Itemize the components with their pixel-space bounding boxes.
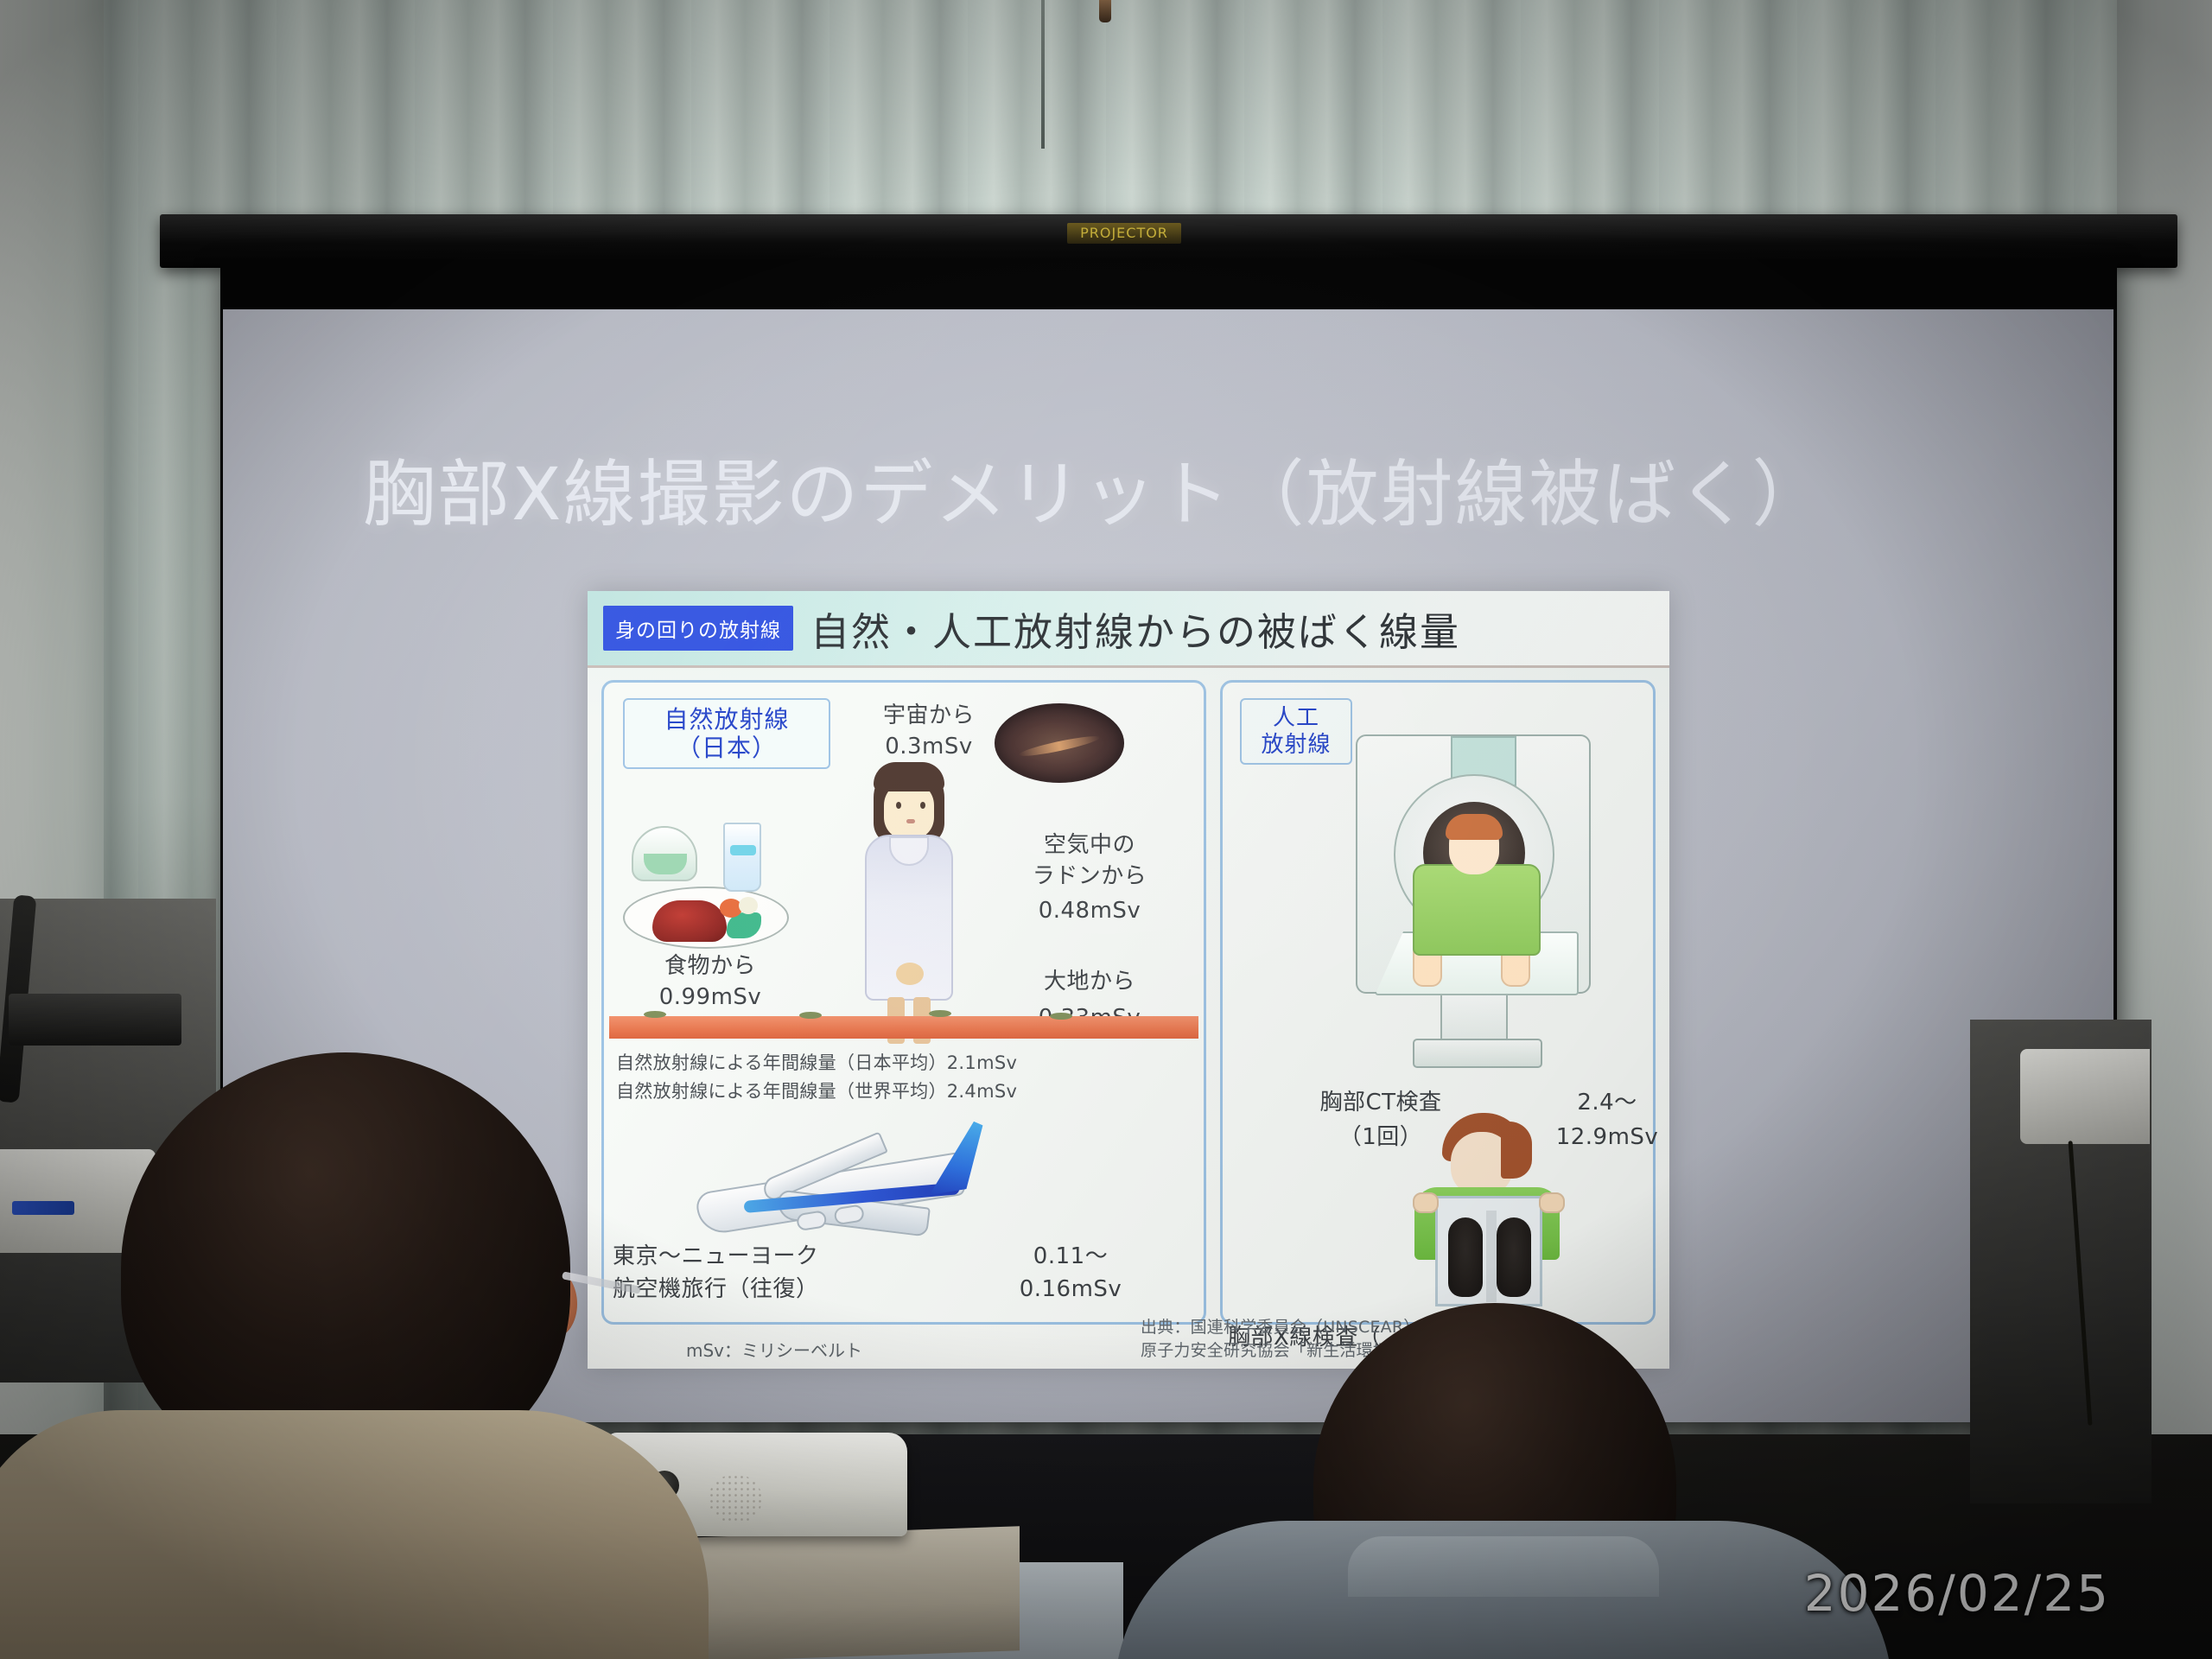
camera-datestamp: 2026/02/25 bbox=[1804, 1564, 2110, 1623]
ct-patient-gown bbox=[1413, 864, 1541, 956]
xray-film-icon bbox=[1435, 1196, 1542, 1306]
tag-artificial-line1: 人工 bbox=[1250, 705, 1342, 732]
unit-note: mSv：ミリシーベルト bbox=[686, 1337, 862, 1362]
tag-natural-line1: 自然放射線 bbox=[633, 705, 820, 734]
xray-person-hair-side bbox=[1501, 1122, 1532, 1179]
projector-vent bbox=[709, 1474, 762, 1524]
chest-xray-illustration bbox=[1375, 1113, 1599, 1312]
screen-case-label: PROJECTOR bbox=[1067, 223, 1181, 244]
label-ground-source: 大地から bbox=[995, 968, 1185, 996]
ct-scanner-illustration bbox=[1330, 734, 1615, 1080]
ceiling-mount-bracket bbox=[1099, 0, 1111, 22]
ground-strip bbox=[609, 1016, 1198, 1039]
summary-world-average: 自然放射線による年間線量（世界平均）2.4mSv bbox=[616, 1077, 1197, 1106]
xray-spine bbox=[1486, 1211, 1497, 1302]
person-illustration bbox=[836, 762, 982, 1056]
value-radon-dose: 0.48mSv bbox=[995, 897, 1185, 925]
person-eye-left bbox=[896, 802, 901, 809]
lecture-room-photo: PROJECTOR 胸部X線撮影のデメリット（放射線被ばく） 身の回りの放射線 … bbox=[0, 0, 2212, 1659]
left-wall bbox=[0, 0, 104, 1659]
person-hands bbox=[896, 963, 924, 985]
infographic-heading: 自然・人工放射線からの被ばく線量 bbox=[810, 601, 1460, 657]
screen-case-label-text: PROJECTOR bbox=[1067, 223, 1181, 244]
ct-patient-hair bbox=[1446, 814, 1503, 840]
av-device-indicator bbox=[12, 1201, 74, 1215]
xray-person-hand-right bbox=[1539, 1192, 1565, 1213]
value-food-dose: 0.99mSv bbox=[620, 983, 801, 1012]
value-cosmic-dose: 0.3mSv bbox=[851, 733, 1007, 761]
ceiling-rod bbox=[1041, 0, 1045, 149]
label-radon-line2: ラドンから bbox=[995, 862, 1185, 891]
cosmos-galaxy-icon bbox=[995, 703, 1124, 783]
person-hair-front bbox=[874, 762, 944, 791]
infographic-panels: 自然放射線 （日本） 宇宙から 0.3mSv bbox=[588, 668, 1669, 1325]
av-cart-left-deck bbox=[9, 994, 181, 1046]
ct-pedestal bbox=[1440, 990, 1508, 1046]
tag-natural-radiation: 自然放射線 （日本） bbox=[623, 698, 830, 769]
value-travel-dose-max: 0.16mSv bbox=[976, 1275, 1166, 1304]
summary-japan-average: 自然放射線による年間線量（日本平均）2.1mSv bbox=[616, 1049, 1197, 1077]
label-travel-route: 東京～ニューヨーク bbox=[613, 1243, 958, 1271]
radiation-infographic: 身の回りの放射線 自然・人工放射線からの被ばく線量 自然放射線 （日本） 宇宙か… bbox=[588, 591, 1669, 1369]
person-eye-right bbox=[920, 802, 925, 809]
garnish-icon bbox=[739, 897, 758, 914]
label-travel-mode: 航空機旅行（往復） bbox=[613, 1275, 958, 1304]
tag-natural-line2: （日本） bbox=[633, 734, 820, 762]
status-badge: 身の回りの放射線 bbox=[603, 606, 793, 651]
xray-person-hand-left bbox=[1413, 1192, 1439, 1213]
audience-right-collar bbox=[1348, 1536, 1659, 1597]
panel-natural-radiation: 自然放射線 （日本） 宇宙から 0.3mSv bbox=[601, 680, 1206, 1325]
infographic-header: 身の回りの放射線 自然・人工放射線からの被ばく線量 bbox=[588, 591, 1669, 665]
audience-member-left-body bbox=[0, 1410, 709, 1659]
air-travel-section: 東京～ニューヨーク 航空機旅行（往復） 0.11～ 0.16mSv bbox=[613, 1132, 1200, 1322]
food-illustration bbox=[623, 823, 796, 952]
slide-title: 胸部X線撮影のデメリット（放射線被ばく） bbox=[363, 456, 1849, 533]
rice-bowl-icon bbox=[632, 826, 697, 881]
tag-artificial-line2: 放射線 bbox=[1250, 732, 1342, 759]
label-cosmic-source: 宇宙から bbox=[851, 702, 1007, 730]
meat-icon bbox=[652, 900, 727, 942]
av-device-right bbox=[2020, 1049, 2150, 1144]
ct-base-plate bbox=[1413, 1039, 1542, 1068]
value-travel-dose-min: 0.11～ bbox=[976, 1243, 1166, 1271]
xray-lung-left bbox=[1448, 1217, 1483, 1297]
xray-lung-right bbox=[1497, 1217, 1531, 1297]
annual-dose-summary: 自然放射線による年間線量（日本平均）2.1mSv 自然放射線による年間線量（世界… bbox=[616, 1049, 1197, 1105]
person-mouth bbox=[906, 819, 915, 823]
water-glass-icon bbox=[723, 823, 761, 892]
panel-artificial-radiation: 人工 放射線 bbox=[1220, 680, 1656, 1325]
label-food-source: 食物から bbox=[620, 952, 801, 981]
label-radon-line1: 空気中の bbox=[995, 831, 1185, 860]
